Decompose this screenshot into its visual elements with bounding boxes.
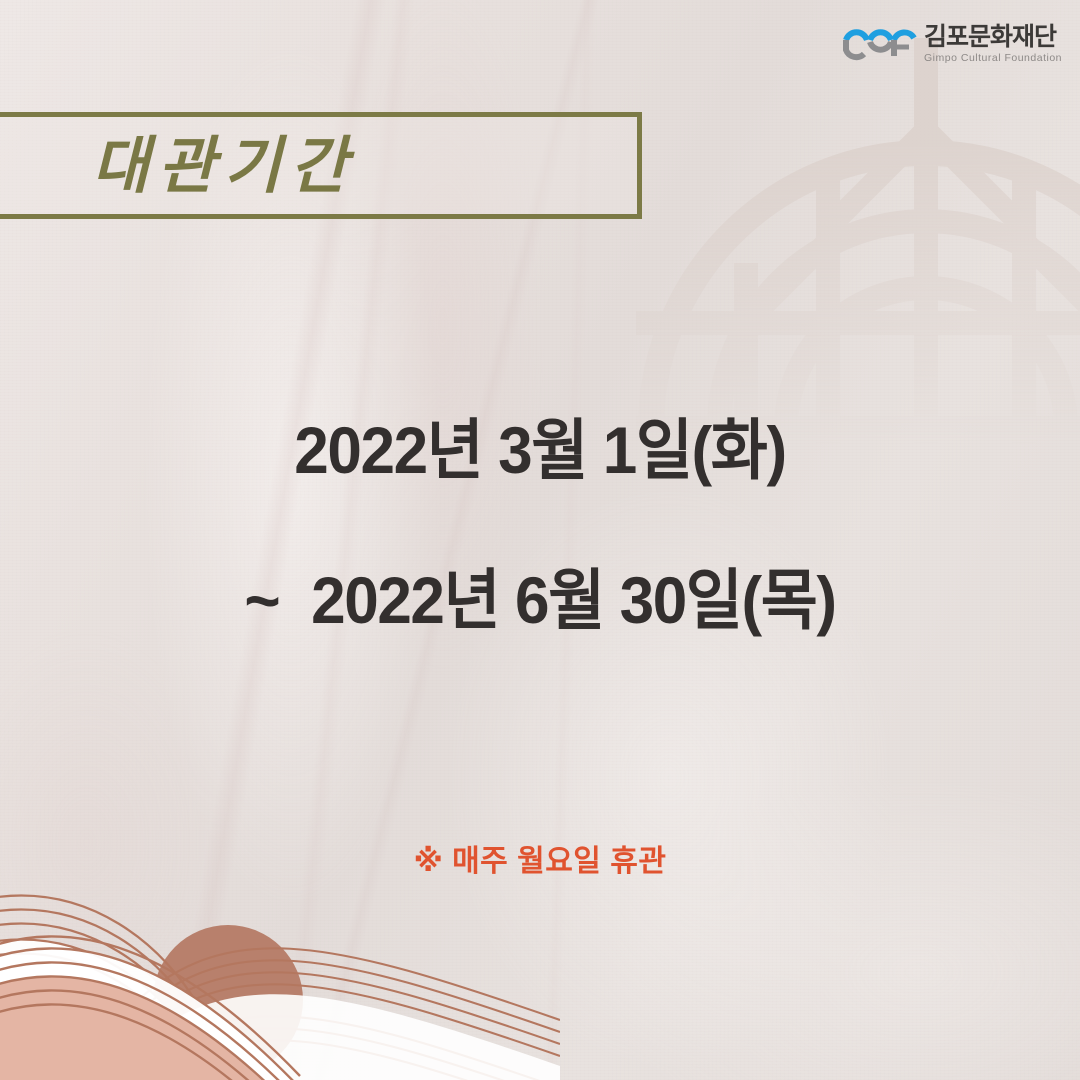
rental-end-date-row: ~2022년 6월 30일(목)	[32, 554, 1047, 646]
gcf-logo: 김포문화재단 Gimpo Cultural Foundation	[843, 24, 1062, 64]
page-title: 대관기간	[92, 118, 612, 214]
rental-start-date: 2022년 3월 1일(화)	[32, 404, 1047, 496]
date-range-separator: ~	[244, 554, 311, 646]
logo-name-ko: 김포문화재단	[924, 25, 1062, 50]
closed-day-note: ※ 매주 월요일 휴관	[0, 836, 1080, 880]
gcf-logo-mark-icon	[843, 24, 917, 64]
logo-wordmark: 김포문화재단 Gimpo Cultural Foundation	[924, 24, 1062, 64]
rental-end-date: 2022년 6월 30일(목)	[311, 563, 835, 637]
logo-name-en: Gimpo Cultural Foundation	[924, 53, 1062, 64]
rental-period-block: 2022년 3월 1일(화) ~2022년 6월 30일(목)	[0, 404, 1080, 646]
poster-canvas: 김포문화재단 Gimpo Cultural Foundation 대관기간 20…	[0, 0, 1080, 1080]
